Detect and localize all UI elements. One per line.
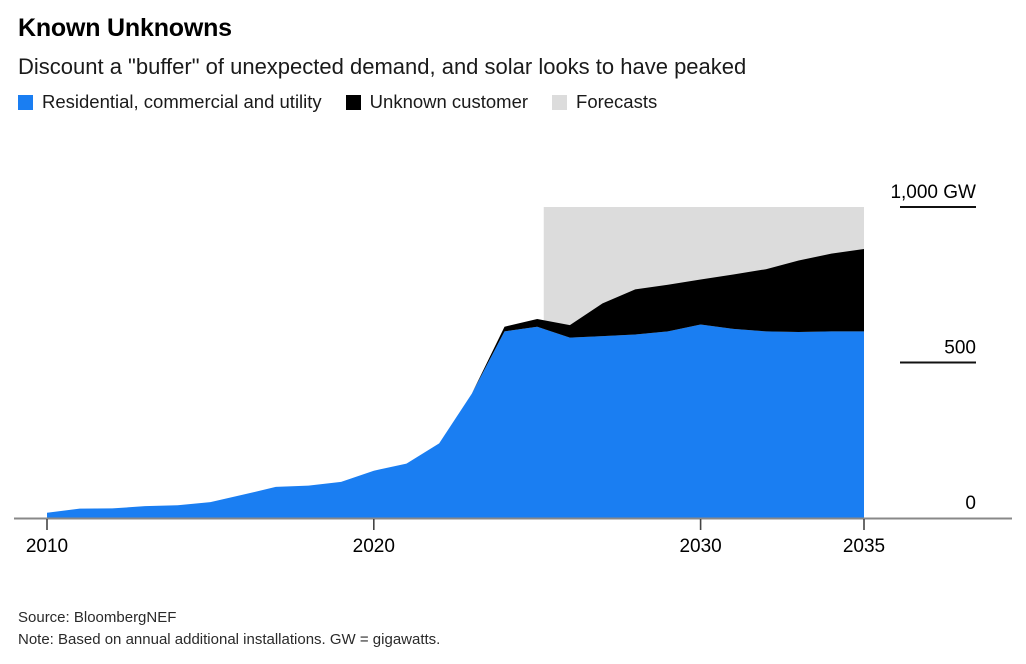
square-swatch-icon [552, 95, 567, 110]
method-note: Note: Based on annual additional install… [18, 629, 440, 650]
x-tick-label: 2030 [679, 536, 721, 557]
legend-label-unknown-customer: Unknown customer [370, 93, 528, 112]
legend-label-residential: Residential, commercial and utility [42, 93, 322, 112]
chart-header: Known Unknowns Discount a "buffer" of un… [0, 0, 1026, 81]
chart-footnotes: Source: BloombergNEF Note: Based on annu… [18, 607, 440, 650]
source-note: Source: BloombergNEF [18, 607, 440, 628]
x-tick-label: 2035 [843, 536, 885, 557]
legend-item-forecasts[interactable]: Forecasts [552, 93, 657, 112]
x-tick-label: 2020 [353, 536, 395, 557]
page-title: Known Unknowns [18, 14, 1008, 43]
y-tick-label: 0 [965, 493, 976, 514]
y-tick-label: 500 [944, 338, 976, 359]
legend-item-residential[interactable]: Residential, commercial and utility [18, 93, 322, 112]
square-swatch-icon [18, 95, 33, 110]
area-chart-svg: 201020202030203505001,000 GW [0, 178, 1026, 578]
legend-label-forecasts: Forecasts [576, 93, 657, 112]
area-series-residential [47, 325, 864, 518]
chart-card: Known Unknowns Discount a "buffer" of un… [0, 0, 1026, 664]
y-tick-label: 1,000 GW [890, 182, 976, 203]
legend-item-unknown-customer[interactable]: Unknown customer [346, 93, 528, 112]
chart-plot-area: 201020202030203505001,000 GW [0, 178, 1026, 578]
chart-legend: Residential, commercial and utility Unkn… [0, 81, 1026, 112]
chart-subtitle: Discount a "buffer" of unexpected demand… [18, 53, 938, 81]
x-tick-label: 2010 [26, 536, 68, 557]
square-swatch-icon [346, 95, 361, 110]
